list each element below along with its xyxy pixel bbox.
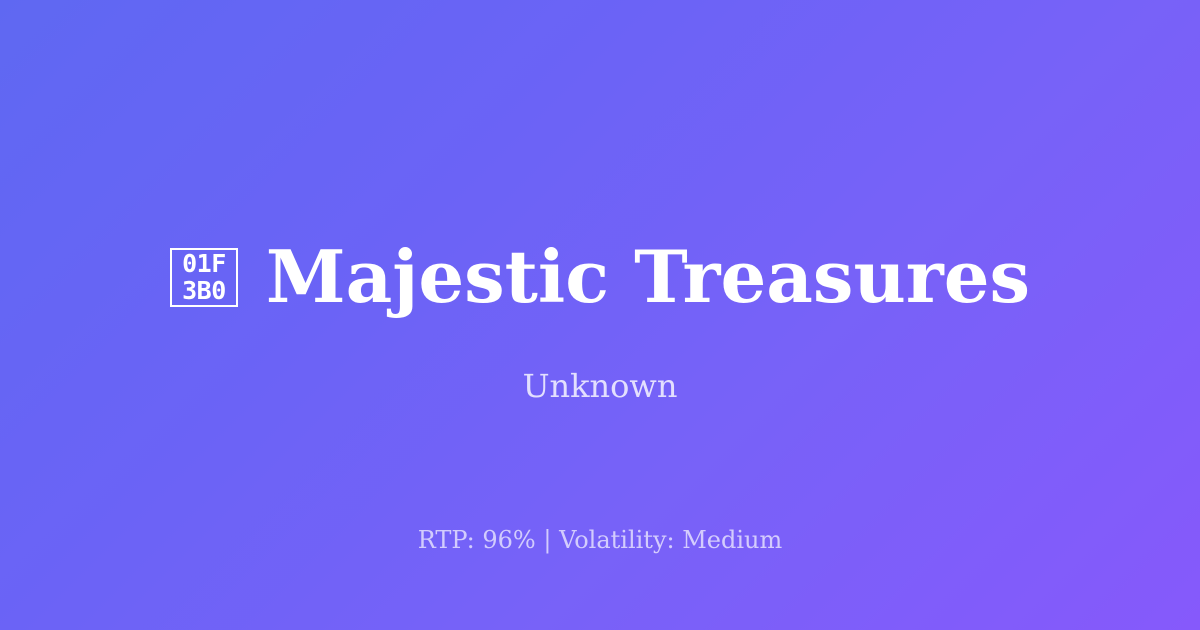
slot-machine-icon: 01F 3B0 [170,248,238,307]
page-title: Majestic Treasures [266,234,1030,320]
slot-machine-icon-codepoint-top: 01F [182,250,226,277]
slot-machine-icon-codepoint-bottom: 3B0 [182,277,226,304]
title-row: 01F 3B0 Majestic Treasures [0,232,1200,322]
og-share-card: 01F 3B0 Majestic Treasures Unknown RTP: … [0,0,1200,630]
game-stats-line: RTP: 96% | Volatility: Medium [0,523,1200,557]
provider-label: Unknown [0,364,1200,408]
